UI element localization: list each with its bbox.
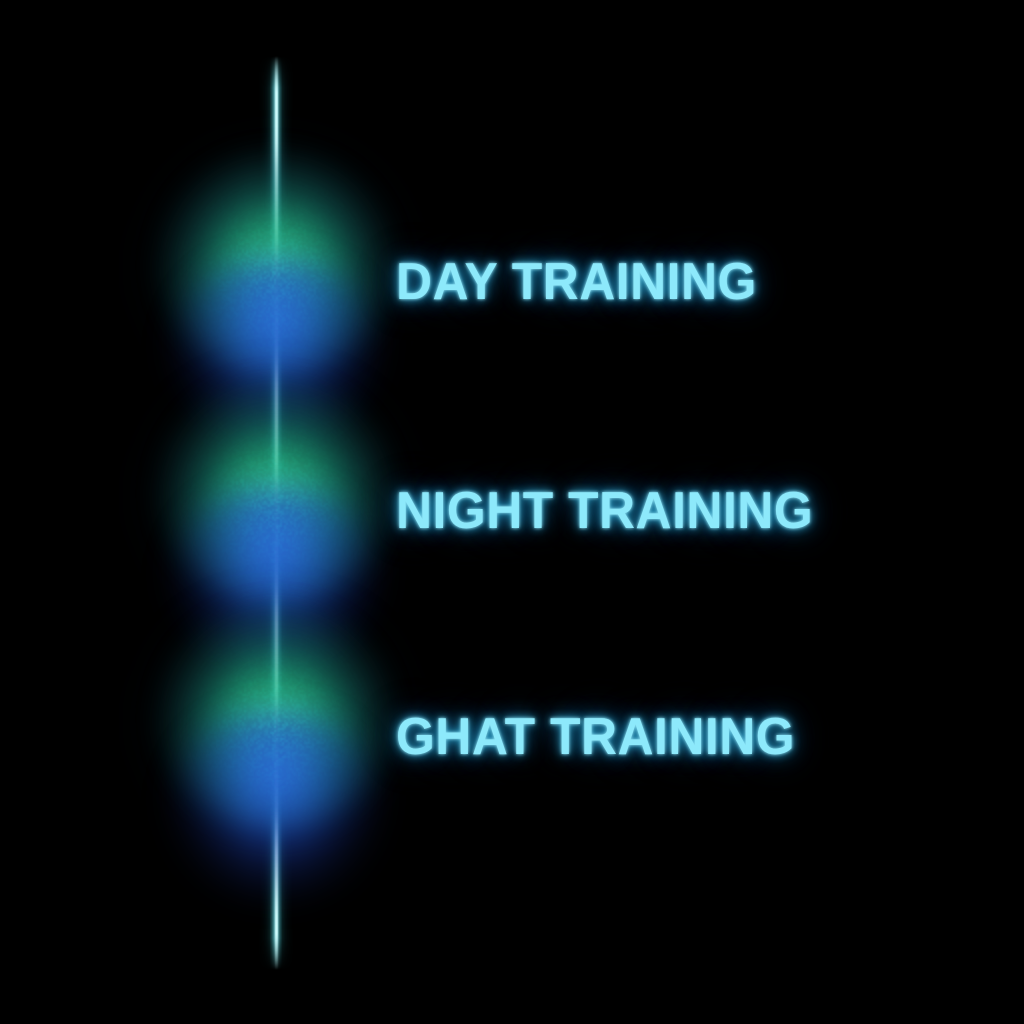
timeline-node-orb-1	[151, 150, 401, 400]
orb-blue-glow-icon	[171, 710, 381, 900]
orb-soft-halo-icon	[146, 150, 406, 400]
orb-blue-glow-icon	[171, 257, 381, 447]
orb-green-glow-icon	[161, 606, 391, 826]
timeline-label-night-training[interactable]: NIGHT TRAINING	[396, 485, 813, 537]
orb-grain-texture	[156, 155, 396, 395]
timeline-label-day-training[interactable]: DAY TRAINING	[396, 256, 757, 308]
poster-canvas: DAY TRAINING NIGHT TRAINING GHAT TRAININ…	[0, 0, 1024, 1024]
orb-green-glow-icon	[161, 381, 391, 601]
timeline-label-ghat-training[interactable]: GHAT TRAINING	[396, 711, 795, 763]
beam-outer-glow	[259, 56, 293, 970]
orb-soft-halo-icon	[146, 378, 406, 628]
orb-blue-glow-icon	[171, 485, 381, 675]
beam-core	[275, 56, 278, 970]
beam-mid-glow	[270, 56, 282, 970]
orb-green-glow-icon	[161, 153, 391, 373]
timeline-node-orb-3	[151, 603, 401, 853]
orb-grain-texture	[156, 608, 396, 848]
orb-grain-texture	[156, 383, 396, 623]
orb-soft-halo-icon	[146, 603, 406, 853]
timeline-node-orb-2	[151, 378, 401, 628]
